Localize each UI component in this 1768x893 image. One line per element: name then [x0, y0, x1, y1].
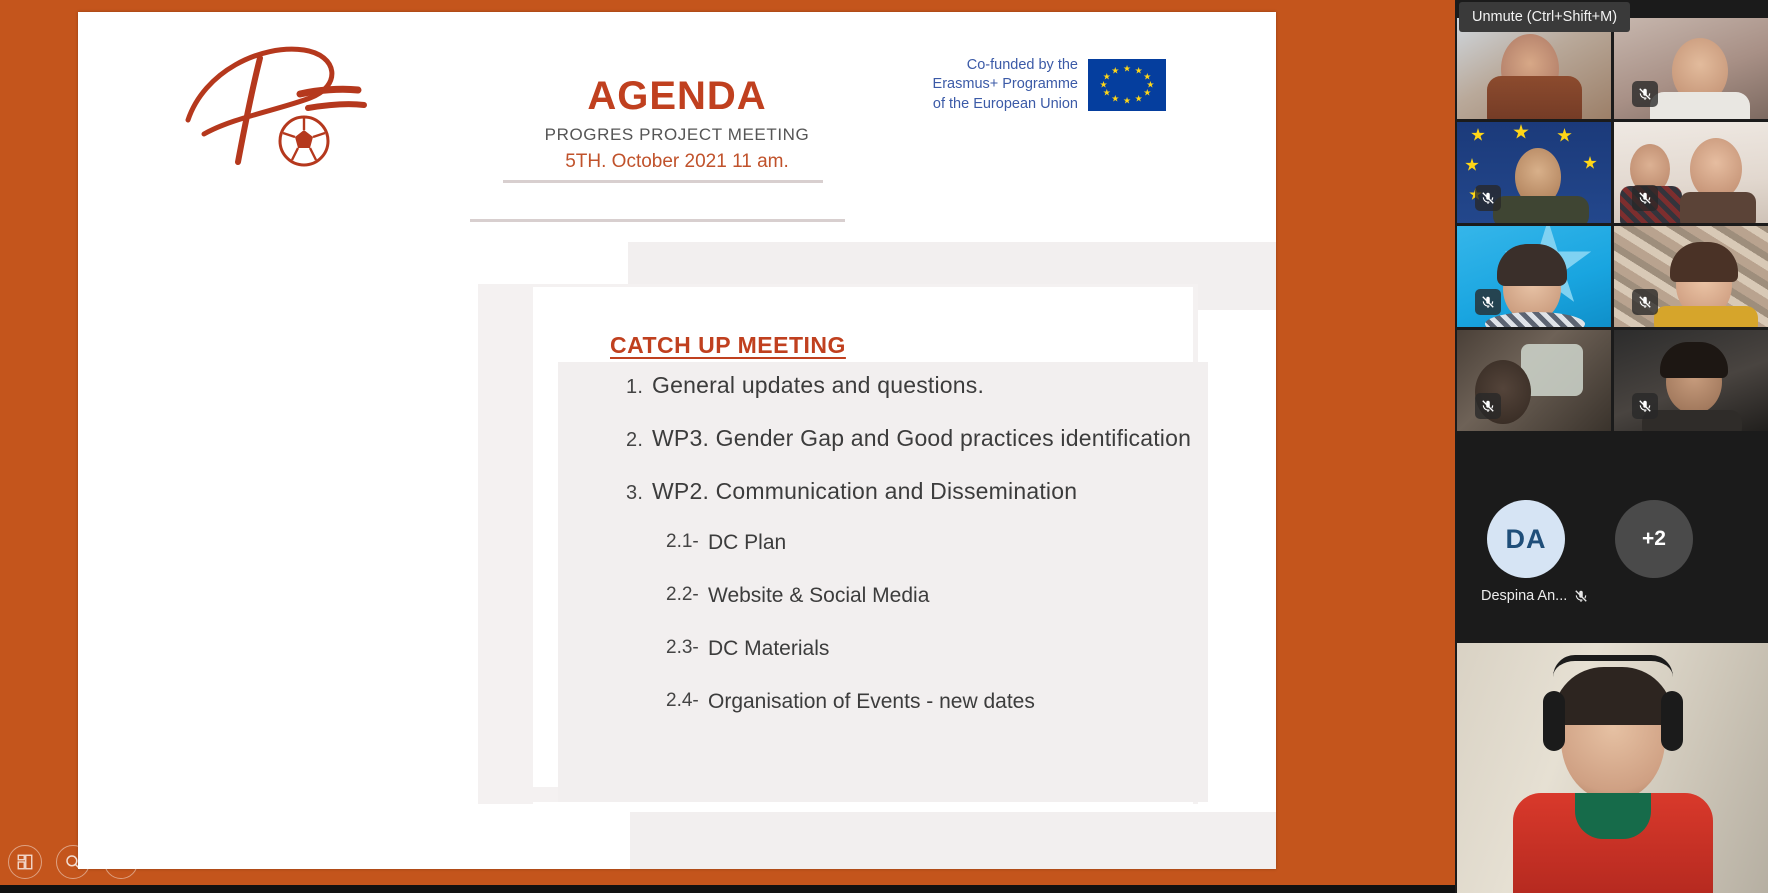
agenda-list: 1. General updates and questions. 2. WP3…: [626, 372, 1246, 743]
participant-tile-2[interactable]: [1614, 18, 1768, 119]
agenda-item-label: General updates and questions.: [652, 372, 984, 399]
agenda-item-label: WP2. Communication and Dissemination: [652, 478, 1077, 505]
eu-star-icon: ★: [1143, 88, 1151, 97]
agenda-subitem: 2.4- Organisation of Events - new dates: [666, 690, 1246, 714]
eu-star-icon: ★: [1123, 65, 1131, 74]
more-icon[interactable]: [104, 845, 138, 879]
presentation-viewer: AGENDA PROGRES PROJECT MEETING 5TH. Octo…: [0, 0, 1455, 885]
participant-sidebar: DA Despina An... +2: [1455, 0, 1768, 893]
eu-funding-line-3: of the European Union: [916, 95, 1078, 115]
eu-funding-text: Co-funded by the Erasmus+ Programme of t…: [916, 56, 1078, 115]
participant-tile-1[interactable]: [1457, 18, 1611, 119]
agenda-subitem-number: 2.2-: [666, 584, 708, 608]
mic-muted-icon: [1632, 289, 1658, 315]
eu-star-icon: ★: [1135, 67, 1143, 76]
overflow-participants-badge[interactable]: +2: [1615, 500, 1693, 578]
agenda-subitem-label: Organisation of Events - new dates: [708, 690, 1035, 714]
mic-muted-icon: [1475, 393, 1501, 419]
agenda-subitem-label: DC Materials: [708, 637, 829, 661]
agenda-subitem-number: 2.1-: [666, 531, 708, 555]
divider-rule-1: [503, 180, 823, 183]
agenda-subitem: 2.1- DC Plan: [666, 531, 1246, 555]
agenda-item-number: 3.: [626, 482, 652, 505]
football-icon: [280, 117, 328, 165]
eu-star-icon: ★: [1103, 73, 1111, 82]
eu-funding-line-1: Co-funded by the: [916, 56, 1078, 76]
avatar-name-row: Despina An...: [1481, 588, 1588, 604]
eu-flag-icon: ★★★★★★★★★★★★: [1088, 59, 1166, 111]
mic-muted-icon: [1632, 185, 1658, 211]
agenda-subitem: 2.2- Website & Social Media: [666, 584, 1246, 608]
agenda-item: 3. WP2. Communication and Dissemination: [626, 478, 1246, 505]
participant-tile-spotlight[interactable]: [1457, 643, 1768, 893]
erasmus-eu-logo: Co-funded by the Erasmus+ Programme of t…: [916, 50, 1166, 120]
agenda-subitem-number: 2.3-: [666, 637, 708, 661]
avatar-row: DA Despina An... +2: [1457, 470, 1768, 635]
participant-row: [1457, 226, 1768, 327]
agenda-subitem-number: 2.4-: [666, 690, 708, 714]
agenda-item: 2. WP3. Gender Gap and Good practices id…: [626, 425, 1246, 452]
layout-icon[interactable]: [8, 845, 42, 879]
eu-star-icon: ★: [1123, 96, 1131, 105]
eu-star-icon: ★: [1111, 67, 1119, 76]
participant-tile-8[interactable]: [1614, 330, 1768, 431]
divider-rule-2: [470, 219, 845, 222]
slide-canvas: AGENDA PROGRES PROJECT MEETING 5TH. Octo…: [78, 12, 1276, 869]
agenda-subitem-label: Website & Social Media: [708, 584, 929, 608]
participant-tile-5[interactable]: [1457, 226, 1611, 327]
eu-star-icon: ★: [1100, 81, 1108, 90]
agenda-item-label: WP3. Gender Gap and Good practices ident…: [652, 425, 1191, 452]
mic-muted-icon: [1632, 393, 1658, 419]
eu-funding-line-2: Erasmus+ Programme: [916, 75, 1078, 95]
viewer-bottom-bar: [0, 885, 1455, 893]
mic-muted-icon: [1632, 81, 1658, 107]
participant-row: [1457, 122, 1768, 223]
mic-muted-icon: [1574, 589, 1588, 603]
viewer-toolbar: [8, 845, 138, 879]
avatar[interactable]: DA: [1487, 500, 1565, 578]
mic-muted-icon: [1475, 289, 1501, 315]
unmute-tooltip: Unmute (Ctrl+Shift+M): [1459, 2, 1630, 32]
app-root: AGENDA PROGRES PROJECT MEETING 5TH. Octo…: [0, 0, 1768, 893]
progres-logo: [182, 38, 382, 168]
participant-tile-4[interactable]: [1614, 122, 1768, 223]
mic-muted-icon: [1475, 185, 1501, 211]
agenda-item: 1. General updates and questions.: [626, 372, 1246, 399]
decor-box-bottom: [630, 812, 1276, 869]
agenda-subitem-label: DC Plan: [708, 531, 786, 555]
participant-row: [1457, 18, 1768, 119]
participant-tile-7[interactable]: [1457, 330, 1611, 431]
participant-tile-6[interactable]: [1614, 226, 1768, 327]
zoom-icon[interactable]: [56, 845, 90, 879]
eu-star-icon: ★: [1103, 88, 1111, 97]
section-heading: CATCH UP MEETING: [610, 332, 846, 359]
eu-star-icon: ★: [1111, 94, 1119, 103]
participant-row: [1457, 330, 1768, 431]
agenda-item-number: 2.: [626, 429, 652, 452]
avatar-name-label: Despina An...: [1481, 588, 1567, 604]
participant-grid: [1457, 18, 1768, 434]
agenda-item-number: 1.: [626, 376, 652, 399]
eu-star-icon: ★: [1135, 94, 1143, 103]
participant-tile-3[interactable]: [1457, 122, 1611, 223]
agenda-subitem: 2.3- DC Materials: [666, 637, 1246, 661]
